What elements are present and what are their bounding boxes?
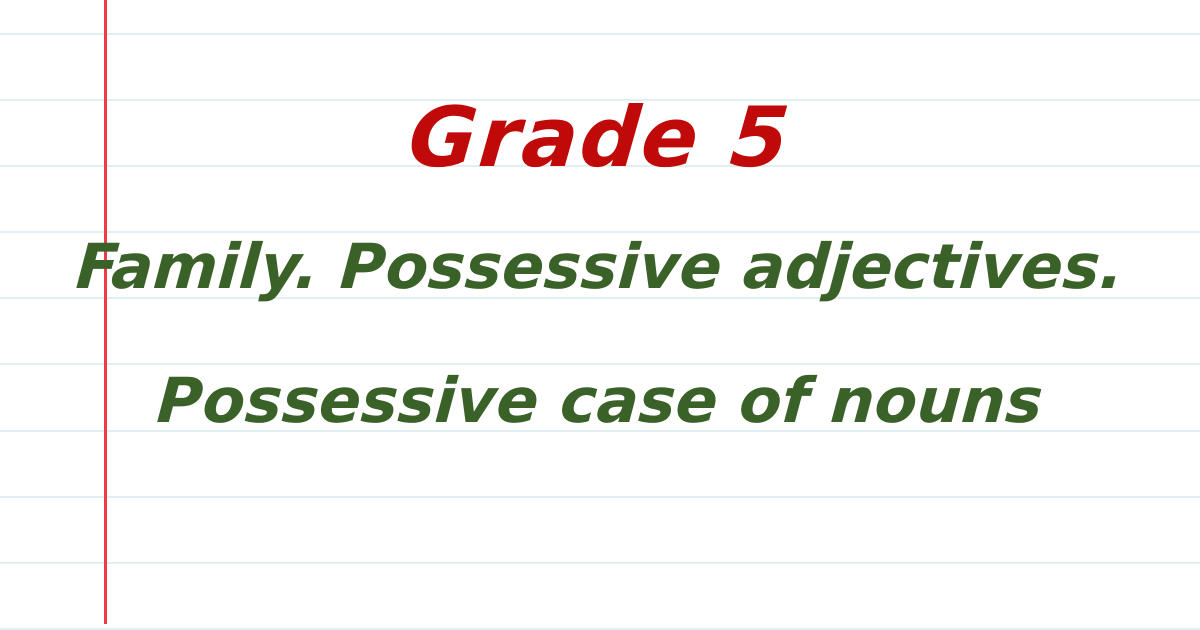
- notebook-page: Grade 5 Family. Possessive adjectives. P…: [0, 0, 1200, 630]
- lesson-topic-line-1: Family. Possessive adjectives.: [0, 236, 1200, 298]
- lesson-topic-line-2: Possessive case of nouns: [0, 370, 1200, 432]
- lesson-heading-block: Grade 5 Family. Possessive adjectives. P…: [0, 0, 1200, 630]
- grade-title: Grade 5: [0, 96, 1200, 179]
